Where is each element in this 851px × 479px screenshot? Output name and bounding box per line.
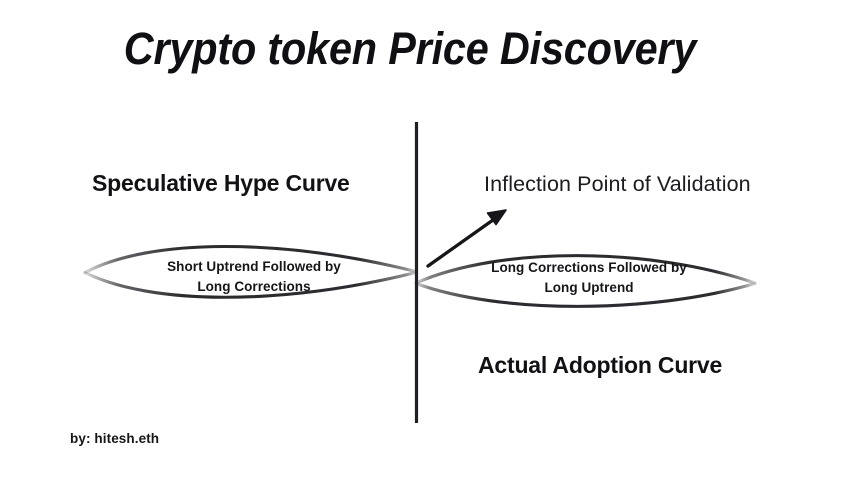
lens-right-caption-line-1: Long Corrections Followed by — [470, 258, 708, 278]
lens-right-caption: Long Corrections Followed by Long Uptren… — [470, 258, 708, 297]
lens-left-caption: Short Uptrend Followed by Long Correctio… — [140, 257, 368, 296]
lens-left-caption-line-1: Short Uptrend Followed by — [140, 257, 368, 277]
author-byline: by: hitesh.eth — [70, 432, 159, 446]
page-title: Crypto token Price Discovery — [33, 26, 787, 71]
diagram-canvas: Crypto token Price Discovery Speculative… — [0, 0, 851, 479]
label-actual-adoption-curve: Actual Adoption Curve — [478, 354, 722, 377]
lens-left-caption-line-2: Long Corrections — [140, 277, 368, 297]
label-speculative-hype-curve: Speculative Hype Curve — [92, 172, 350, 195]
lens-right-caption-line-2: Long Uptrend — [470, 278, 708, 298]
label-inflection-point-of-validation: Inflection Point of Validation — [484, 174, 751, 196]
